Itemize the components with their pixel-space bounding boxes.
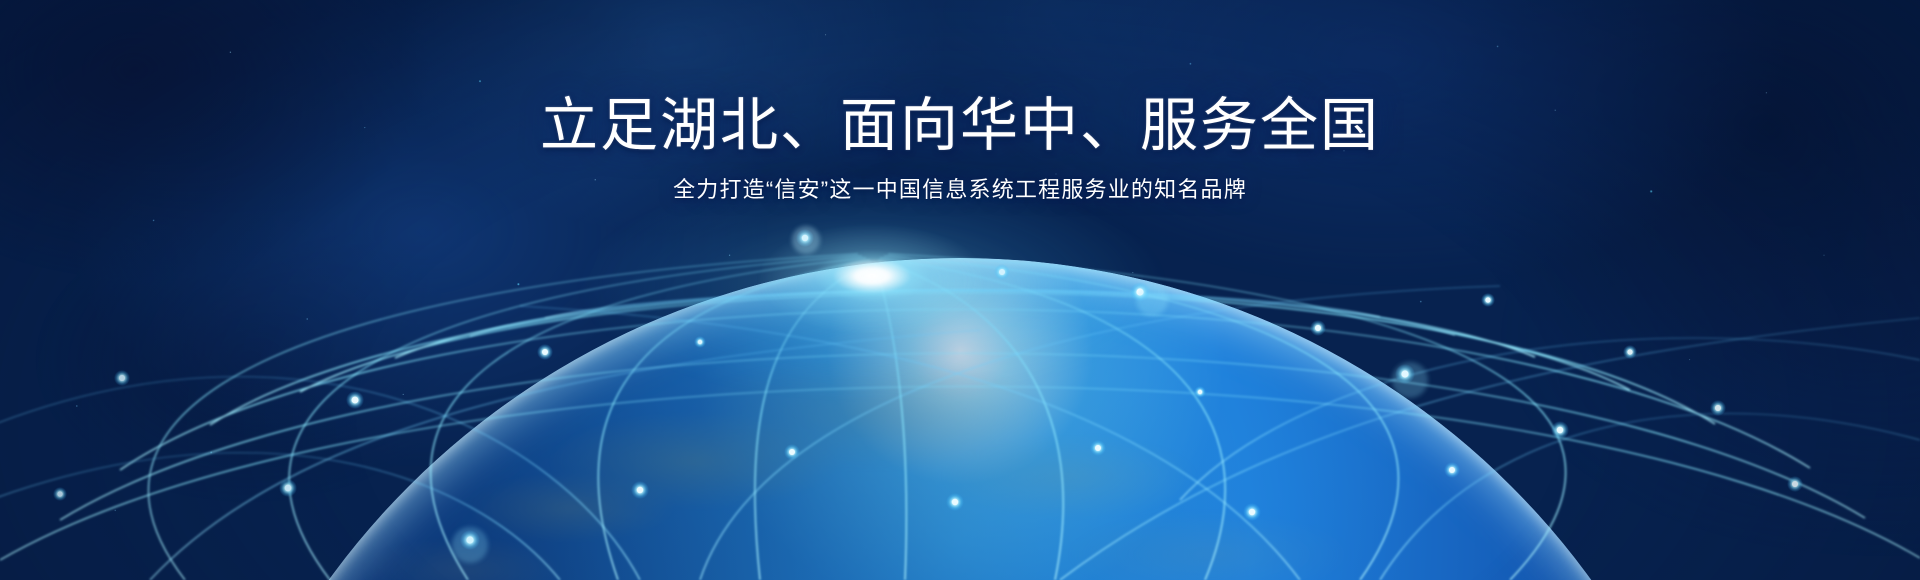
- banner-headline: 立足湖北、面向华中、服务全国: [0, 96, 1920, 157]
- banner-subheadline: 全力打造“信安”这一中国信息系统工程服务业的知名品牌: [0, 175, 1920, 206]
- hero-banner: 立足湖北、面向华中、服务全国 全力打造“信安”这一中国信息系统工程服务业的知名品…: [0, 0, 1920, 580]
- banner-copy: 立足湖北、面向华中、服务全国 全力打造“信安”这一中国信息系统工程服务业的知名品…: [0, 96, 1920, 206]
- network-mesh: [0, 0, 1920, 580]
